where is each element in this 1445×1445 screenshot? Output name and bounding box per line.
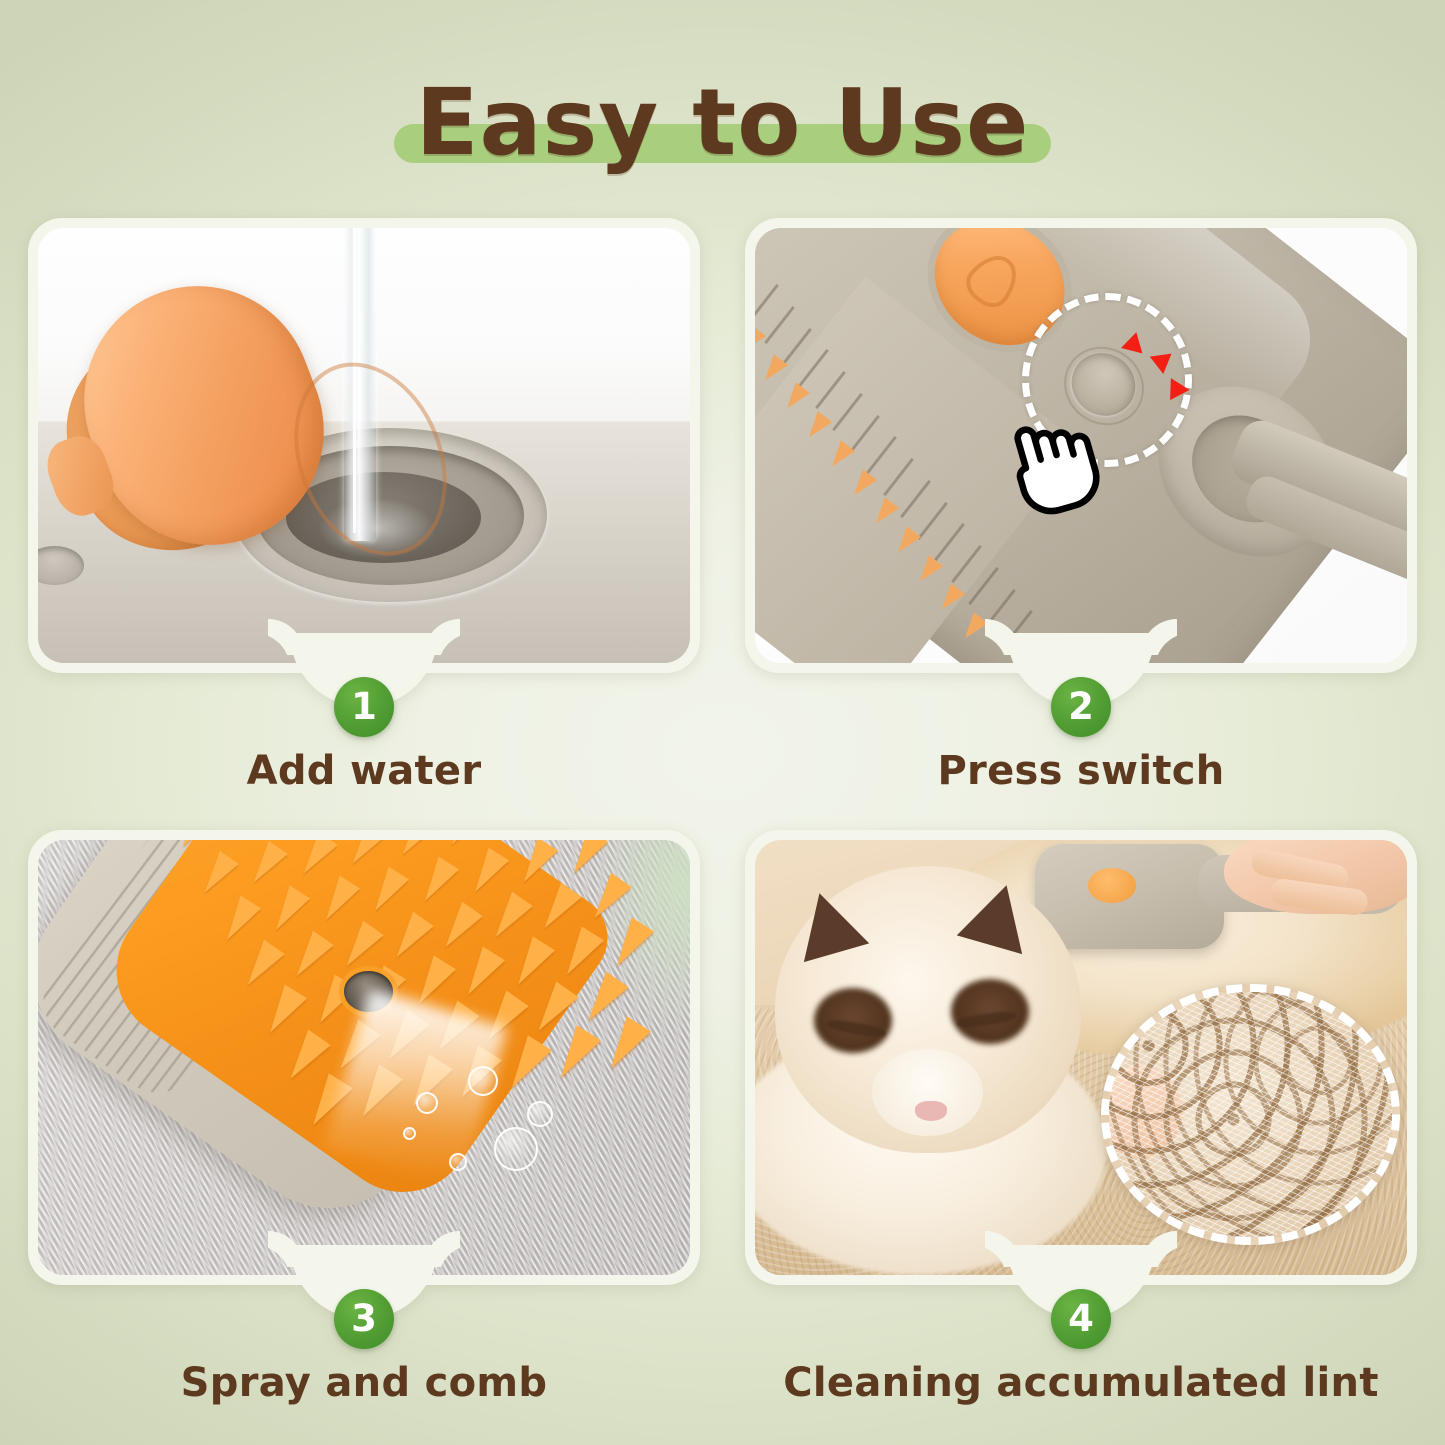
cat-face-mask-left [814, 988, 892, 1053]
photo-press-switch [755, 228, 1407, 663]
cat-nose [915, 1101, 948, 1121]
photo-frame-3 [38, 840, 690, 1275]
title-inner: Easy to Use [416, 73, 1030, 172]
step-card-1: 1 Add water [28, 218, 700, 673]
title-area: Easy to Use [0, 58, 1445, 188]
step-card-4: 4 Cleaning accumulated lint [745, 830, 1417, 1285]
step-card-3: 3 Spray and comb [28, 830, 700, 1285]
photo-cleaning-lint [755, 840, 1407, 1275]
step-caption-4: Cleaning accumulated lint [745, 1360, 1417, 1406]
cat-muzzle [872, 1049, 983, 1136]
step-caption-3: Spray and comb [28, 1360, 700, 1406]
cat-face-mask-right [951, 979, 1029, 1044]
hand-cursor-icon [990, 402, 1122, 534]
step-badge-4: 4 [1051, 1289, 1111, 1349]
steps-grid: 1 Add water [28, 218, 1417, 1418]
bubble [527, 1101, 553, 1127]
infographic-page: Easy to Use [0, 0, 1445, 1445]
photo-add-water [38, 228, 690, 663]
photo-card-3: 3 [28, 830, 700, 1285]
bubble [449, 1153, 467, 1171]
lint-closeup-inset [1101, 984, 1401, 1245]
page-title: Easy to Use [416, 73, 1030, 172]
photo-frame-2 [755, 228, 1407, 663]
photo-card-4: 4 [745, 830, 1417, 1285]
photo-frame-1 [38, 228, 690, 663]
accumulated-lint [1109, 992, 1393, 1237]
step-caption-1: Add water [28, 748, 700, 794]
step-caption-2: Press switch [745, 748, 1417, 794]
step-badge-1: 1 [334, 677, 394, 737]
step-badge-3: 3 [334, 1289, 394, 1349]
photo-card-1: 1 [28, 218, 700, 673]
photo-card-2: 2 [745, 218, 1417, 673]
step-badge-2: 2 [1051, 677, 1111, 737]
step-card-2: 2 Press switch [745, 218, 1417, 673]
photo-spray-and-comb [38, 840, 690, 1275]
red-arrow-icon-3 [1170, 378, 1190, 401]
brush-tool-button [1088, 868, 1137, 903]
photo-frame-4 [755, 840, 1407, 1275]
